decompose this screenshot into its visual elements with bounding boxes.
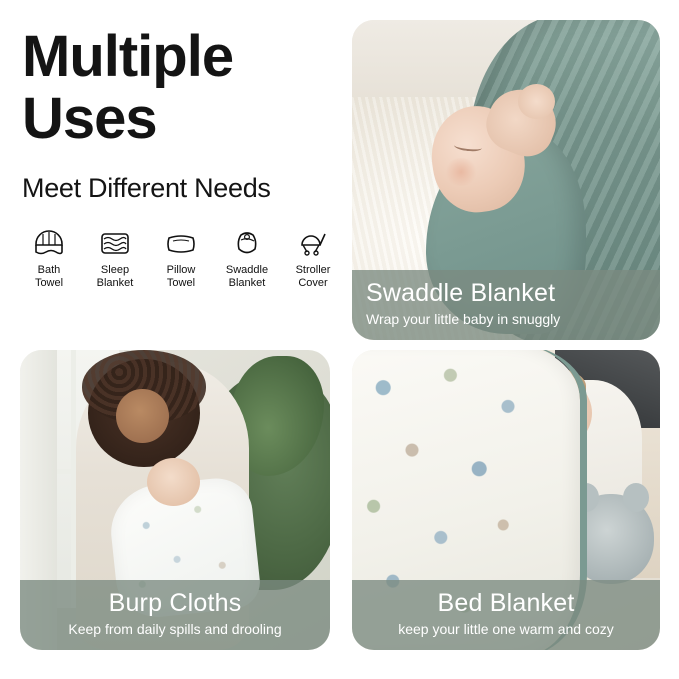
use-label: SwaddleBlanket — [226, 264, 268, 290]
card-title: Burp Cloths — [34, 588, 316, 618]
card-title: Bed Blanket — [366, 588, 646, 618]
card-caption: Swaddle Blanket Wrap your little baby in… — [352, 270, 660, 340]
infographic-page: Multiple Uses Meet Different Needs BathT… — [0, 0, 679, 679]
card-subtitle: keep your little one warm and cozy — [366, 620, 646, 638]
use-item-stroller-cover: StrollerCover — [280, 226, 346, 290]
uses-icon-row: BathTowel SleepBlanket — [16, 226, 346, 290]
card-caption: Bed Blanket keep your little one warm an… — [352, 580, 660, 650]
card-swaddle-blanket: Swaddle Blanket Wrap your little baby in… — [352, 20, 660, 340]
pillow-towel-icon — [164, 226, 198, 260]
use-label: BathTowel — [35, 264, 63, 290]
use-label: StrollerCover — [296, 264, 331, 290]
card-caption: Burp Cloths Keep from daily spills and d… — [20, 580, 330, 650]
card-title: Swaddle Blanket — [366, 278, 646, 308]
use-label: SleepBlanket — [97, 264, 134, 290]
card-subtitle: Keep from daily spills and drooling — [34, 620, 316, 638]
use-item-pillow-towel: PillowTowel — [148, 226, 214, 290]
page-title-line1: Multiple — [22, 26, 352, 88]
use-item-sleep-blanket: SleepBlanket — [82, 226, 148, 290]
headline-block: Multiple Uses Meet Different Needs — [22, 26, 352, 204]
use-item-swaddle-blanket: SwaddleBlanket — [214, 226, 280, 290]
page-title-line2: Uses — [22, 88, 352, 150]
use-item-bath-towel: BathTowel — [16, 226, 82, 290]
sleep-blanket-icon — [98, 226, 132, 260]
card-bed-blanket: Bed Blanket keep your little one warm an… — [352, 350, 660, 650]
card-subtitle: Wrap your little baby in snuggly — [366, 310, 646, 328]
card-burp-cloths: Burp Cloths Keep from daily spills and d… — [20, 350, 330, 650]
bath-towel-icon — [32, 226, 66, 260]
stroller-cover-icon — [296, 226, 330, 260]
use-label: PillowTowel — [167, 264, 196, 290]
page-subtitle: Meet Different Needs — [22, 172, 352, 204]
swaddle-blanket-icon — [230, 226, 264, 260]
